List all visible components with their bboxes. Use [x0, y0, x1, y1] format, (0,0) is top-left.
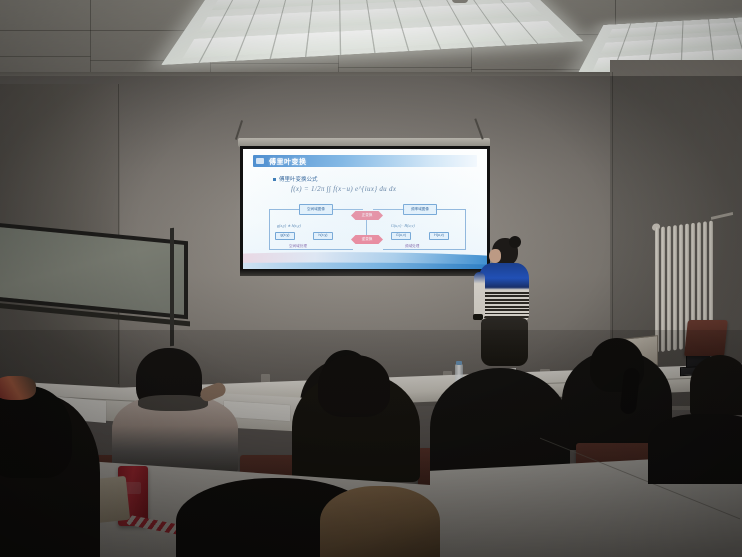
chair-back-right — [684, 320, 728, 356]
flow-box-small-right-2: H(u,v) — [429, 232, 449, 240]
slide-title: 傅里叶变换 — [269, 157, 307, 167]
flow-box-small-left-1: g(x,y) — [275, 232, 295, 240]
whiteboard — [0, 222, 192, 351]
bullet-dot-icon — [273, 178, 276, 181]
presenter-skirt — [481, 318, 528, 366]
presenter-hair-bun — [509, 236, 521, 248]
whiteboard-rail — [170, 228, 174, 346]
flow-box-small-left-2: h(x,y) — [313, 232, 333, 240]
flow-label-right: 频域处理 — [405, 244, 419, 249]
slide-flow-diagram: 空间域图像 频率域图像 正变换 逆变换 g(x,y) ∗ h(x,y) G(u,… — [265, 203, 471, 251]
classroom-photo: 傅里叶变换 傅里叶变换公式 f(x) = 1/2π ∫∫ f(x−u) e^{i… — [0, 0, 742, 557]
slide-bullet-text: 傅里叶变换公式 — [279, 177, 318, 183]
flow-label-left: 空间域处理 — [289, 244, 307, 249]
smoke-detector-icon — [452, 0, 468, 3]
slide-title-marker — [256, 158, 264, 164]
presenter-face — [489, 249, 501, 263]
audience-right-foreground — [648, 414, 742, 484]
audience-seated-beige-coat-scarf — [138, 395, 208, 411]
slide-formula: f(x) = 1/2π ∫∫ f(x−u) e^{iux} du dx — [291, 185, 396, 193]
flow-equation-right: G(u,v) · H(u,v) — [391, 223, 415, 228]
audience-foreground-fur — [320, 486, 440, 557]
projection-screen: 傅里叶变换 傅里叶变换公式 f(x) = 1/2π ∫∫ f(x−u) e^{i… — [240, 146, 490, 272]
audience-left-colorful-scarf — [0, 376, 36, 400]
presenter-sweater — [479, 263, 529, 321]
slide-content: 傅里叶变换 傅里叶变换公式 f(x) = 1/2π ∫∫ f(x−u) e^{i… — [243, 149, 487, 269]
audience-back-right-laptop — [690, 355, 742, 415]
flow-hex-forward: 正变换 — [351, 211, 383, 220]
water-bottle-2-cap — [456, 361, 462, 365]
slide-title-bar: 傅里叶变换 — [253, 155, 477, 167]
screen-bottom-bar — [240, 270, 490, 276]
flow-box-top-left: 空间域图像 — [299, 204, 333, 215]
flow-box-small-right-1: G(u,v) — [391, 232, 411, 240]
slide-bullet-line: 傅里叶变换公式 — [273, 175, 318, 183]
flow-equation-left: g(x,y) ∗ h(x,y) — [277, 223, 301, 228]
audience-seated-dark-1-head — [318, 355, 390, 417]
flow-box-top-right: 频率域图像 — [403, 204, 437, 215]
presenter-watch — [473, 314, 483, 320]
presenter-arm — [474, 272, 485, 320]
flow-hex-inverse: 逆变换 — [351, 235, 383, 244]
